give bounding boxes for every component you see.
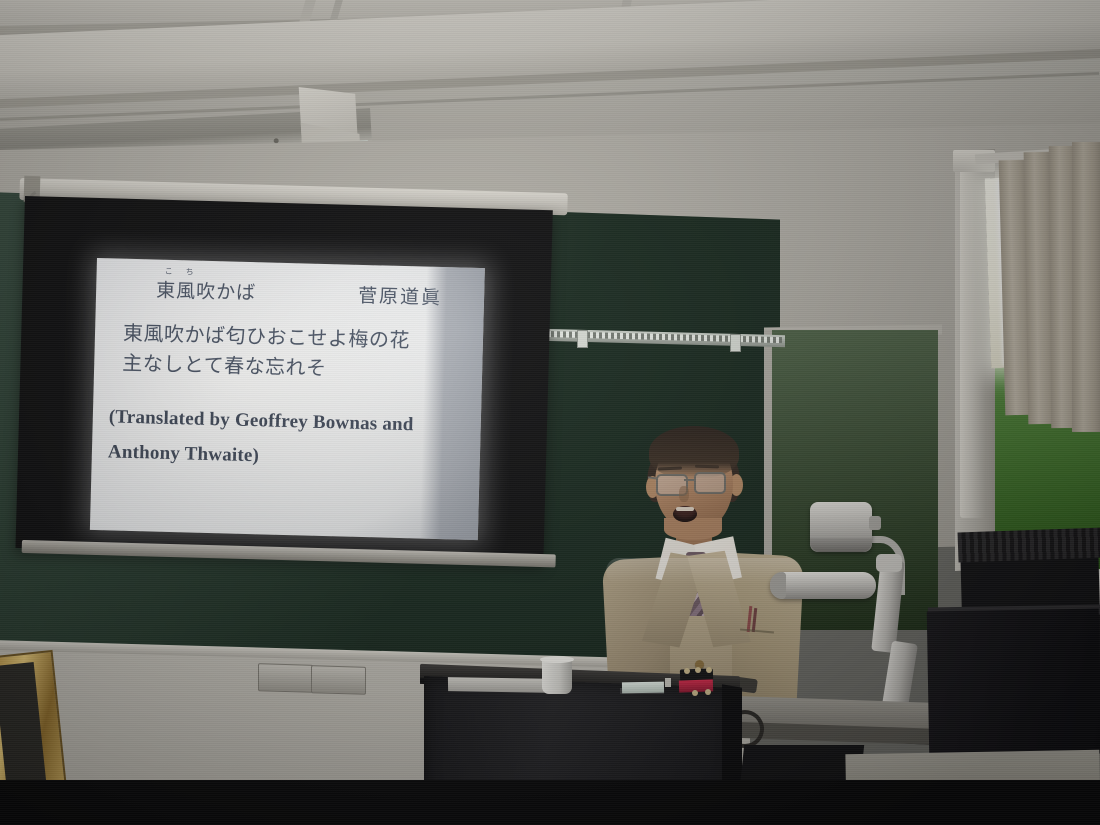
case-knob-2: [705, 689, 711, 695]
chalkboard-eraser-1[interactable]: [258, 663, 313, 693]
device-knob-1[interactable]: [684, 668, 690, 674]
nose: [679, 486, 689, 502]
rail-clip-right: [730, 334, 741, 352]
stack-of-papers[interactable]: [448, 677, 554, 693]
paper-cup[interactable]: [542, 658, 572, 694]
camera-adjust-knob[interactable]: [869, 516, 881, 530]
wall-pillar: [960, 158, 986, 518]
chin: [664, 518, 722, 540]
small-notebook[interactable]: [622, 682, 664, 694]
paper-cup-rim: [540, 656, 574, 663]
device-knob-3[interactable]: [706, 667, 712, 673]
glasses-lens-right: [694, 472, 726, 494]
chalkboard-eraser-2[interactable]: [311, 665, 366, 695]
camera-lens-face: [810, 538, 872, 552]
slide-title: 東風吹かば: [156, 276, 257, 306]
projection-dark-edge: [420, 267, 485, 540]
slide-poem-line-2: 主なしとて春な忘れそ: [122, 347, 327, 381]
equipment-bag-flap: [958, 527, 1100, 562]
photo-scene: こ ち 東風吹かば 菅原道眞 東風吹かば匂ひおこせよ梅の花 主なしとて春な忘れそ…: [0, 0, 1100, 825]
slide-translation-line-2: Anthony Thwaite): [108, 441, 260, 467]
teeth: [676, 507, 694, 511]
curtain-fold-4: [1072, 142, 1100, 432]
camera-arm-joint: [876, 554, 902, 572]
case-knob-1: [692, 690, 698, 696]
floor: [0, 780, 1100, 825]
device-knob-2[interactable]: [695, 667, 701, 673]
equipment-bag-front: [927, 609, 1100, 757]
rail-clip-left: [577, 330, 588, 348]
camera-light-bar-cap: [770, 572, 786, 599]
glasses-bridge: [684, 479, 695, 481]
projected-slide: こ ち 東風吹かば 菅原道眞 東風吹かば匂ひおこせよ梅の花 主なしとて春な忘れそ…: [90, 258, 485, 540]
small-clip[interactable]: [665, 678, 671, 687]
